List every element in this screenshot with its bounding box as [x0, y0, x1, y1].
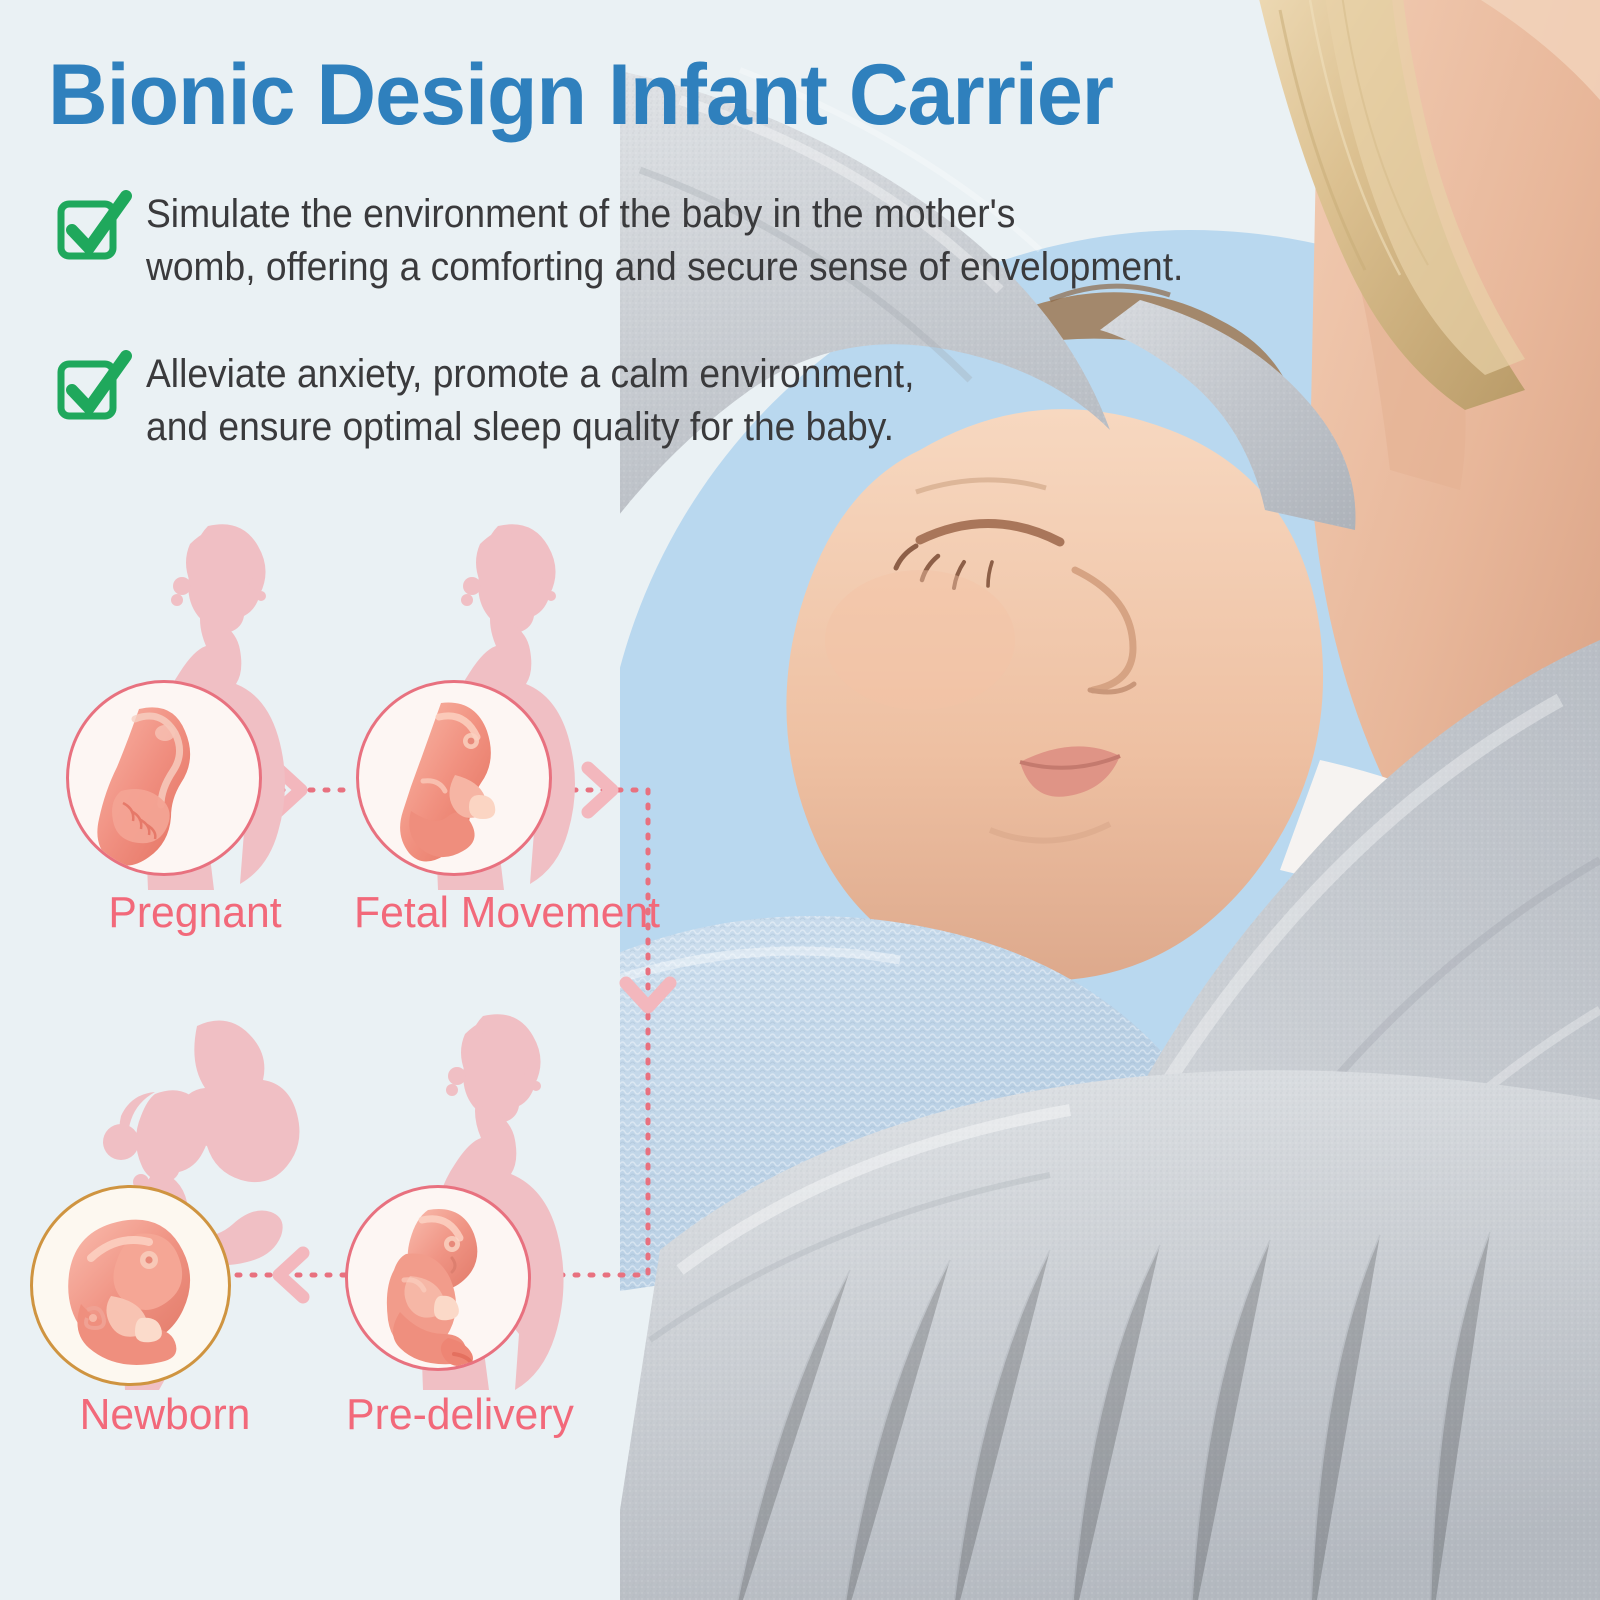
feature-item-2: Alleviate anxiety, promote a calm enviro…: [56, 348, 1066, 454]
check-box-icon: [56, 350, 132, 426]
stage-label-pregnant: Pregnant: [64, 888, 326, 938]
fetus-circle-newborn: [30, 1185, 231, 1386]
embryo-circle-fetal: [356, 680, 552, 876]
stage-pregnant: Pregnant: [60, 520, 330, 980]
stage-label-predelivery: Pre-delivery: [329, 1390, 591, 1440]
page-title: Bionic Design Infant Carrier: [48, 52, 1113, 138]
newborn-curled-illustration: [33, 1188, 228, 1383]
stage-pre-delivery: Pre-delivery: [325, 1010, 595, 1480]
feature-text-2: Alleviate anxiety, promote a calm enviro…: [146, 348, 914, 454]
feature-item-1: Simulate the environment of the baby in …: [56, 188, 1316, 294]
stage-newborn: Newborn: [30, 1010, 300, 1480]
embryo-early-illustration: [69, 683, 259, 873]
pregnancy-stage-cycle: Pregnant: [0, 500, 700, 1500]
fetus-predelivery-illustration: [348, 1188, 528, 1368]
stage-label-newborn: Newborn: [34, 1390, 296, 1440]
check-box-icon: [56, 190, 132, 266]
embryo-circle-pregnant: [66, 680, 262, 876]
fetus-movement-illustration: [359, 683, 549, 873]
fetus-circle-predelivery: [345, 1185, 531, 1371]
stage-label-fetal: Fetal Movement: [354, 888, 616, 938]
infographic-root: Bionic Design Infant Carrier Simulate th…: [0, 0, 1600, 1600]
feature-text-1: Simulate the environment of the baby in …: [146, 188, 1183, 294]
stage-fetal-movement: Fetal Movement: [350, 520, 620, 980]
